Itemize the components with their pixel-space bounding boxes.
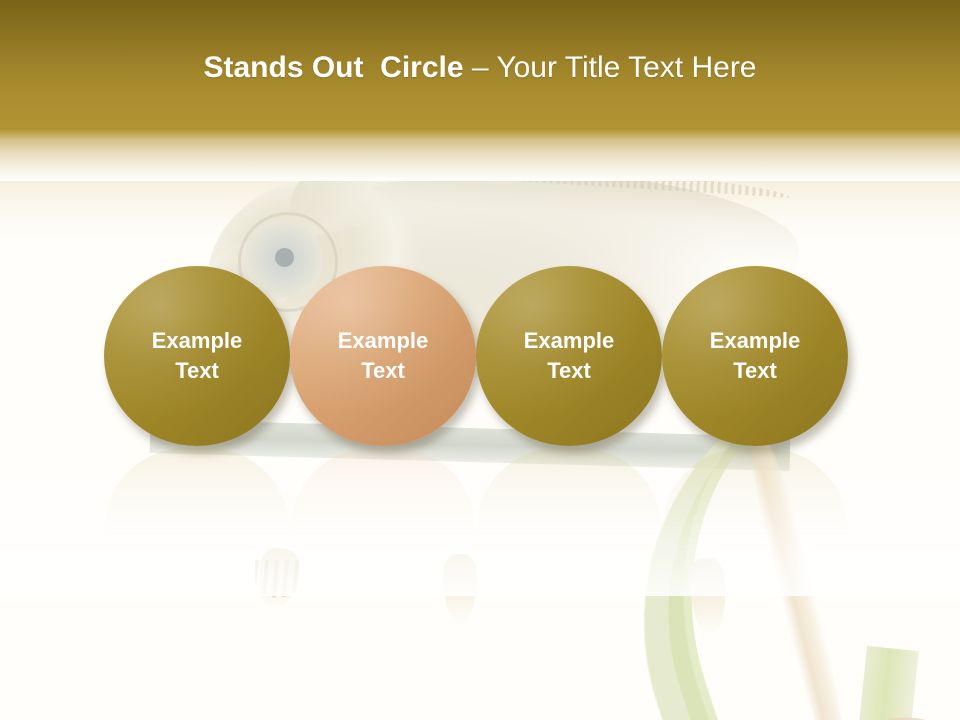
circle-item-1[interactable]: Example Text	[104, 266, 290, 446]
circle-row: Example Text Example Text Example Text E…	[0, 0, 960, 720]
circle-item-3[interactable]: Example Text	[476, 266, 662, 446]
circle-item-4[interactable]: Example Text	[662, 266, 848, 446]
circle-label: Example Text	[152, 326, 243, 386]
slide: Stands Out Circle – Your Title Text Here…	[0, 0, 960, 720]
circle-label: Example Text	[524, 326, 615, 386]
circle-label: Example Text	[710, 326, 801, 386]
circle-item-2-highlight[interactable]: Example Text	[290, 266, 476, 446]
circle-label: Example Text	[338, 326, 429, 386]
